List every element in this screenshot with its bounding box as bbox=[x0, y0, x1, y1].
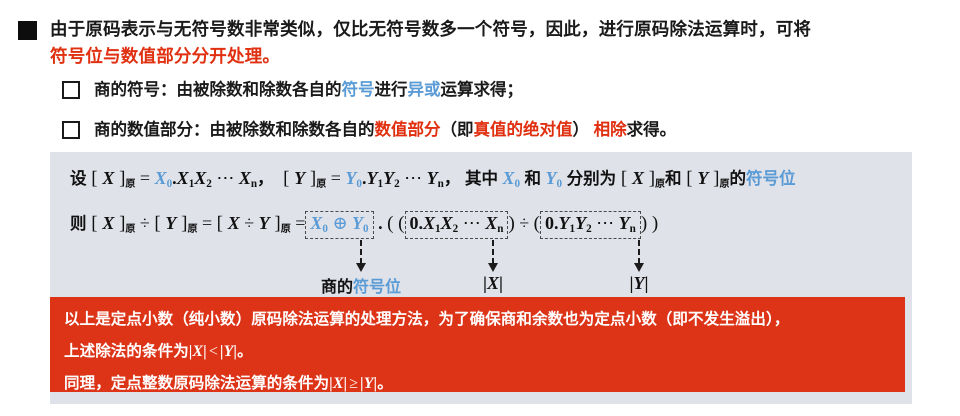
f1-comma-2: ， bbox=[444, 170, 461, 188]
callout-p3-text: 同理，定点整数原码除法运算的条件为 bbox=[64, 375, 329, 392]
header-bullet-block: 由于原码表示与无符号数非常类似，仅比无符号数多一个符号，因此，进行原码除法运算时… bbox=[18, 16, 944, 70]
arrow-to-sign-bit bbox=[360, 240, 362, 264]
f2-sub-yuan-1: 原 bbox=[125, 224, 135, 235]
arrow-label-x-magnitude: |X| bbox=[483, 273, 503, 294]
chk2-seg4: 求得。 bbox=[627, 121, 677, 139]
empty-checkbox-icon[interactable] bbox=[62, 81, 80, 99]
f1-comma-1: ， bbox=[257, 170, 274, 188]
callout-p2-end: 。 bbox=[237, 343, 253, 360]
callout-paragraph-1: 以上是定点小数（纯小数）原码除法运算的处理方法，为了确保商和余数也为定点小数（即… bbox=[64, 308, 891, 331]
arrow-label-1-prefix: 商的 bbox=[321, 279, 353, 296]
empty-checkbox-icon[interactable] bbox=[62, 121, 80, 139]
arrow-to-y-magnitude bbox=[638, 240, 640, 264]
callout-p3-x: |X| bbox=[329, 375, 347, 392]
f1-and-2: 和 bbox=[665, 170, 682, 188]
dashed-box-sign: X0 ⊕ Y0 bbox=[305, 211, 373, 239]
header-line-2-red: 符号位与数值部分分开处理 bbox=[50, 46, 262, 66]
arrow-to-x-magnitude bbox=[492, 240, 494, 264]
callout-p2-y: |Y| bbox=[220, 343, 237, 360]
callout-p1-text: 以上是定点小数（纯小数）原码除法运算的处理方法，为了确保商和余数也为定点小数（即… bbox=[64, 311, 789, 328]
f1-and-1: 和 bbox=[525, 170, 542, 188]
chk2-red3: 相除 bbox=[594, 121, 627, 139]
f2-sub-yuan-2: 原 bbox=[187, 224, 197, 235]
formula-line-2: 则 [ X ]原 ÷ [ Y ]原 = [ X ÷ Y ]原 =X0 ⊕ Y0 … bbox=[70, 210, 658, 239]
chk2-seg1: 商的数值部分：由被除数和除数各自的 bbox=[94, 121, 375, 139]
arrow-label-y-magnitude: |Y| bbox=[630, 273, 649, 294]
filled-square-bullet-icon bbox=[18, 21, 37, 40]
callout-p3-y: |Y| bbox=[360, 375, 377, 392]
dashed-box-x-magnitude: 0.X1X2 ⋯ Xn bbox=[405, 211, 509, 239]
callout-p2-rel: < bbox=[207, 343, 220, 360]
chk2-red2: 真值的绝对值 bbox=[474, 121, 573, 139]
checklist-item-2-label: 商的数值部分：由被除数和除数各自的数值部分（即真值的绝对值） 相除求得。 bbox=[94, 118, 676, 142]
header-line-2-period: 。 bbox=[262, 46, 280, 66]
f1-sub-yuan-1: 原 bbox=[125, 179, 135, 190]
callout-p2-text: 上述除法的条件为 bbox=[64, 343, 189, 360]
chk1-seg3: 运算求得； bbox=[441, 81, 524, 99]
callout-p2-x: |X| bbox=[189, 343, 207, 360]
chk1-blue1: 符号 bbox=[342, 81, 375, 99]
chk1-seg1: 商的符号：由被除数和除数各自的 bbox=[94, 81, 342, 99]
checklist-item-1-label: 商的符号：由被除数和除数各自的符号进行异或运算求得； bbox=[94, 78, 523, 102]
f1-de: 的 bbox=[729, 170, 746, 188]
header-row: 由于原码表示与无符号数非常类似，仅比无符号数多一个符号，因此，进行原码除法运算时… bbox=[18, 16, 944, 70]
chk1-blue2: 异或 bbox=[408, 81, 441, 99]
callout-paragraph-2: 上述除法的条件为|X|<|Y|。 bbox=[64, 340, 891, 363]
f1-lead: 设 bbox=[70, 170, 87, 188]
slide-canvas: 由于原码表示与无符号数非常类似，仅比无符号数多一个符号，因此，进行原码除法运算时… bbox=[0, 0, 960, 416]
f2-sub-yuan-3: 原 bbox=[281, 224, 291, 235]
f1-signbit: 符号位 bbox=[746, 170, 796, 188]
chk2-seg2: （即 bbox=[441, 121, 474, 139]
f2-lead: 则 bbox=[70, 215, 87, 233]
callout-p3-rel: ≥ bbox=[347, 375, 360, 392]
chk2-seg3: ） bbox=[573, 121, 590, 139]
arrow-label-1-blue: 符号位 bbox=[353, 279, 401, 296]
dashed-box-y-magnitude: 0.Y1Y2 ⋯ Yn bbox=[540, 211, 641, 239]
checklist-item-quotient-sign[interactable]: 商的符号：由被除数和除数各自的符号进行异或运算求得； bbox=[62, 78, 523, 102]
red-callout-box: 以上是定点小数（纯小数）原码除法运算的处理方法，为了确保商和余数也为定点小数（即… bbox=[50, 297, 905, 392]
f1-sub-yuan-2: 原 bbox=[316, 179, 326, 190]
f1-mid: 其中 bbox=[465, 170, 498, 188]
chk1-seg2: 进行 bbox=[375, 81, 408, 99]
f1-sub-yuan-3: 原 bbox=[655, 179, 665, 190]
f1-sub-yuan-4: 原 bbox=[719, 179, 729, 190]
formula-line-1: 设 [ X ]原 = X0.X1X2 ⋯ Xn， [ Y ]原 = Y0.Y1Y… bbox=[70, 165, 795, 190]
chk2-red1: 数值部分 bbox=[375, 121, 441, 139]
callout-paragraph-3: 同理，定点整数原码除法运算的条件为|X|≥|Y|。 bbox=[64, 372, 891, 395]
arrow-label-sign-bit: 商的符号位 bbox=[321, 273, 401, 297]
header-line-1: 由于原码表示与无符号数非常类似，仅比无符号数多一个符号，因此，进行原码除法运算时… bbox=[50, 19, 811, 39]
header-text: 由于原码表示与无符号数非常类似，仅比无符号数多一个符号，因此，进行原码除法运算时… bbox=[50, 16, 811, 70]
f1-tail: 分别为 bbox=[567, 170, 617, 188]
callout-p3-end: 。 bbox=[377, 375, 393, 392]
checklist-item-quotient-magnitude[interactable]: 商的数值部分：由被除数和除数各自的数值部分（即真值的绝对值） 相除求得。 bbox=[62, 118, 676, 142]
